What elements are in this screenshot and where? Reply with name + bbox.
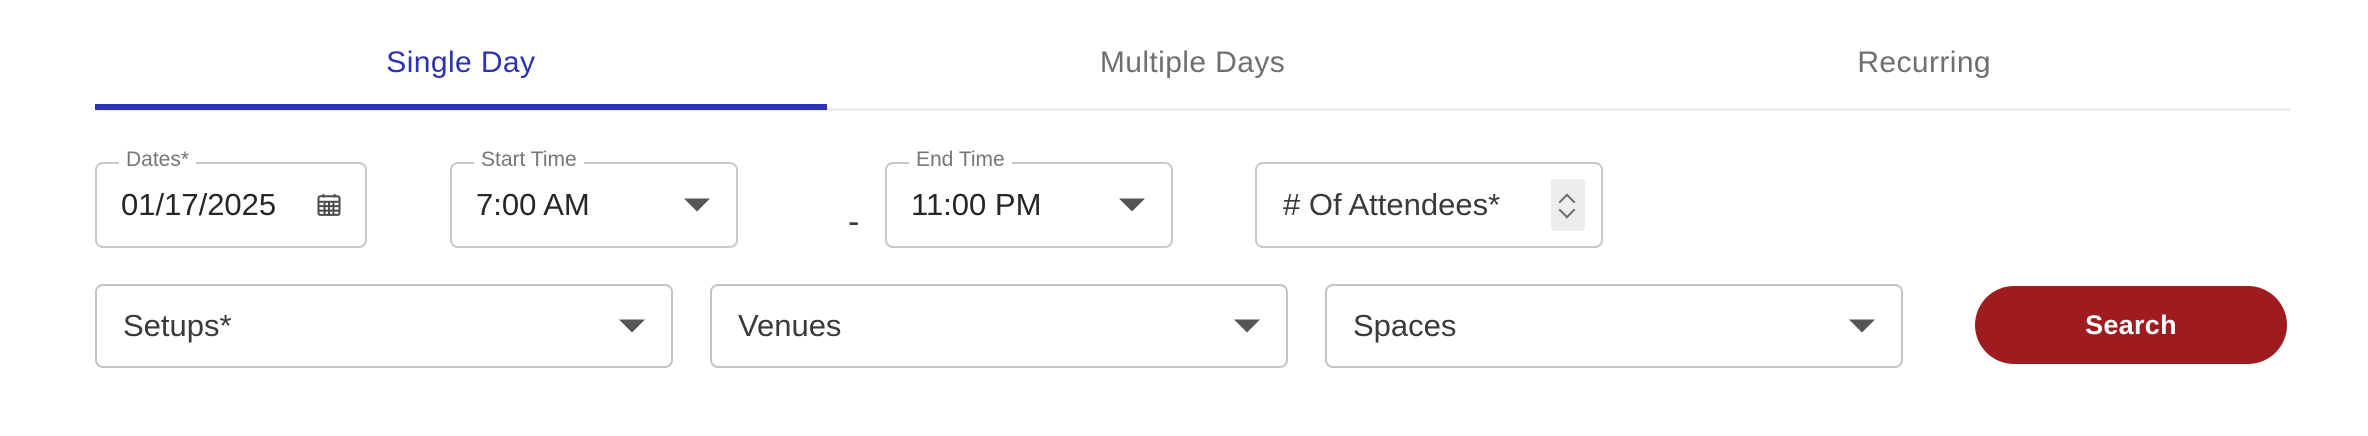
spinner-decrement-icon[interactable] (1561, 207, 1575, 215)
tab-multiple-days[interactable]: Multiple Days (827, 16, 1559, 110)
attendees-field-placeholder: # Of Attendees* (1283, 187, 1500, 223)
dates-field-value: 01/17/2025 (121, 187, 276, 223)
end-time-field[interactable]: End Time 11:00 PM (885, 162, 1173, 248)
venues-select[interactable]: Venues (710, 284, 1288, 368)
spaces-select-label: Spaces (1353, 308, 1456, 344)
start-time-field[interactable]: Start Time 7:00 AM (450, 162, 738, 248)
spaces-select[interactable]: Spaces (1325, 284, 1903, 368)
dates-field-legend: Dates* (119, 149, 196, 171)
start-time-field-legend: Start Time (474, 149, 584, 171)
tab-recurring[interactable]: Recurring (1558, 16, 2290, 110)
dates-field[interactable]: Dates* 01/17/2025 (95, 162, 367, 248)
chevron-down-icon[interactable] (1849, 320, 1875, 333)
search-button[interactable]: Search (1975, 286, 2287, 364)
booking-search-panel: Single Day Multiple Days Recurring Dates… (0, 0, 2368, 436)
chevron-down-icon[interactable] (1119, 199, 1145, 212)
chevron-down-icon[interactable] (1234, 320, 1260, 333)
setups-select[interactable]: Setups* (95, 284, 673, 368)
venues-select-label: Venues (738, 308, 841, 344)
calendar-icon[interactable] (315, 191, 343, 219)
number-spinner-icon[interactable] (1551, 179, 1585, 231)
tab-active-underline (95, 104, 827, 110)
tab-multiple-days-label: Multiple Days (1100, 46, 1285, 80)
time-range-separator: - (848, 205, 859, 239)
attendees-field[interactable]: # Of Attendees* (1255, 162, 1603, 248)
end-time-field-legend: End Time (909, 149, 1012, 171)
end-time-field-value: 11:00 PM (911, 187, 1041, 223)
tab-single-day-label: Single Day (386, 46, 535, 80)
start-time-field-value: 7:00 AM (476, 187, 590, 223)
tab-single-day[interactable]: Single Day (95, 16, 827, 110)
chevron-down-icon[interactable] (684, 199, 710, 212)
tab-list: Single Day Multiple Days Recurring (95, 16, 2290, 110)
chevron-down-icon[interactable] (619, 320, 645, 333)
tab-recurring-label: Recurring (1857, 46, 1991, 80)
tab-strip: Single Day Multiple Days Recurring (95, 16, 2290, 110)
setups-select-label: Setups* (123, 308, 232, 344)
